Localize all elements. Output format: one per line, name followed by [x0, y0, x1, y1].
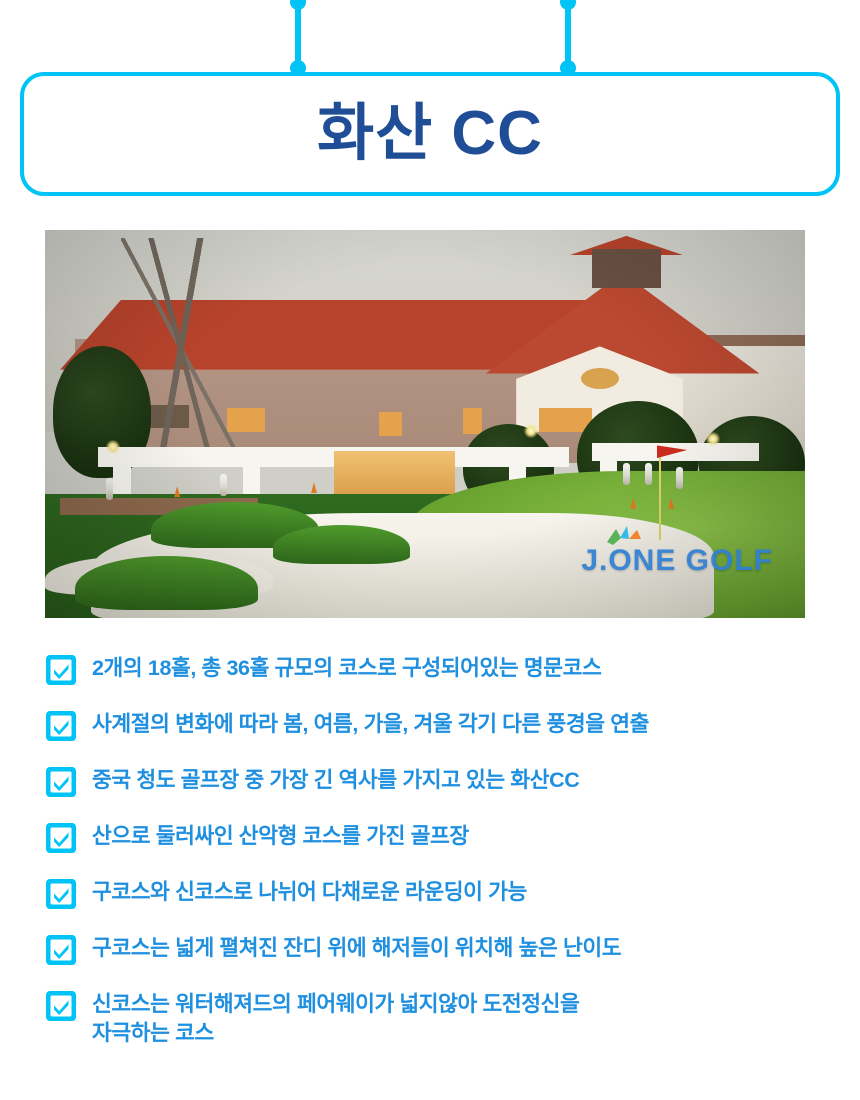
- person: [623, 463, 630, 485]
- window: [379, 412, 402, 435]
- list-item-label: 산으로 둘러싸인 산악형 코스를 가진 골프장: [92, 820, 469, 851]
- feature-list: 2개의 18홀, 총 36홀 규모의 코스로 구성되어있는 명문코스 사계절의 …: [44, 652, 844, 1047]
- person: [220, 474, 227, 496]
- checkbox-checked-icon: [44, 821, 78, 855]
- person: [106, 478, 113, 500]
- round-gable-window: [581, 368, 619, 389]
- window: [463, 408, 482, 433]
- watermark-text: J.ONE GOLF: [581, 546, 773, 576]
- person: [676, 467, 683, 489]
- connector-stem: [295, 0, 301, 70]
- flag-pole: [659, 447, 661, 540]
- page-title: 화산 CC: [317, 103, 543, 165]
- list-item-label: 중국 청도 골프장 중 가장 긴 역사를 가지고 있는 화산CC: [92, 764, 579, 795]
- lamp-light: [706, 432, 720, 446]
- traffic-cone: [311, 482, 317, 493]
- list-item-label: 신코스는 워터해져드의 페어웨이가 넓지않아 도전정신을 자극하는 코스: [92, 988, 579, 1047]
- connector-dot-top-icon: [290, 0, 306, 10]
- list-item: 구코스는 넓게 펼쳐진 잔디 위에 해저들이 위치해 높은 난이도: [44, 932, 844, 967]
- traffic-cone: [174, 486, 180, 497]
- list-item: 사계절의 변화에 따라 봄, 여름, 가을, 겨울 각기 다른 풍경을 연출: [44, 708, 844, 743]
- connector-stem: [565, 0, 571, 70]
- connector-line-left: [294, 0, 302, 72]
- top-connectors: [0, 0, 860, 80]
- list-item: 중국 청도 골프장 중 가장 긴 역사를 가지고 있는 화산CC: [44, 764, 844, 799]
- list-item: 2개의 18홀, 총 36홀 규모의 코스로 구성되어있는 명문코스: [44, 652, 844, 687]
- watermark: J.ONE GOLF: [581, 546, 773, 576]
- lamp-light: [106, 440, 120, 454]
- grass-tuft: [273, 525, 410, 564]
- checkbox-checked-icon: [44, 765, 78, 799]
- list-item: 신코스는 워터해져드의 페어웨이가 넓지않아 도전정신을 자극하는 코스: [44, 988, 844, 1047]
- connector-dot-top-icon: [560, 0, 576, 10]
- lamp-light: [524, 424, 538, 438]
- golf-flag-logo-icon: [607, 526, 653, 546]
- checkbox-checked-icon: [44, 653, 78, 687]
- connector-line-right: [564, 0, 572, 72]
- list-item-label: 구코스와 신코스로 나뉘어 다채로운 라운딩이 가능: [92, 876, 527, 907]
- title-card: 화산 CC: [20, 72, 840, 196]
- list-item-label: 구코스는 넓게 펼쳐진 잔디 위에 해저들이 위치해 높은 난이도: [92, 932, 621, 963]
- checkbox-checked-icon: [44, 709, 78, 743]
- cupola: [592, 249, 660, 288]
- list-item: 구코스와 신코스로 나뉘어 다채로운 라운딩이 가능: [44, 876, 844, 911]
- list-item-label: 사계절의 변화에 따라 봄, 여름, 가을, 겨울 각기 다른 풍경을 연출: [92, 708, 649, 739]
- checkbox-checked-icon: [44, 989, 78, 1023]
- clubhouse-photo: J.ONE GOLF: [45, 230, 805, 618]
- person: [645, 463, 652, 485]
- list-item: 산으로 둘러싸인 산악형 코스를 가진 골프장: [44, 820, 844, 855]
- checkbox-checked-icon: [44, 933, 78, 967]
- checkbox-checked-icon: [44, 877, 78, 911]
- list-item-label: 2개의 18홀, 총 36홀 규모의 코스로 구성되어있는 명문코스: [92, 652, 601, 683]
